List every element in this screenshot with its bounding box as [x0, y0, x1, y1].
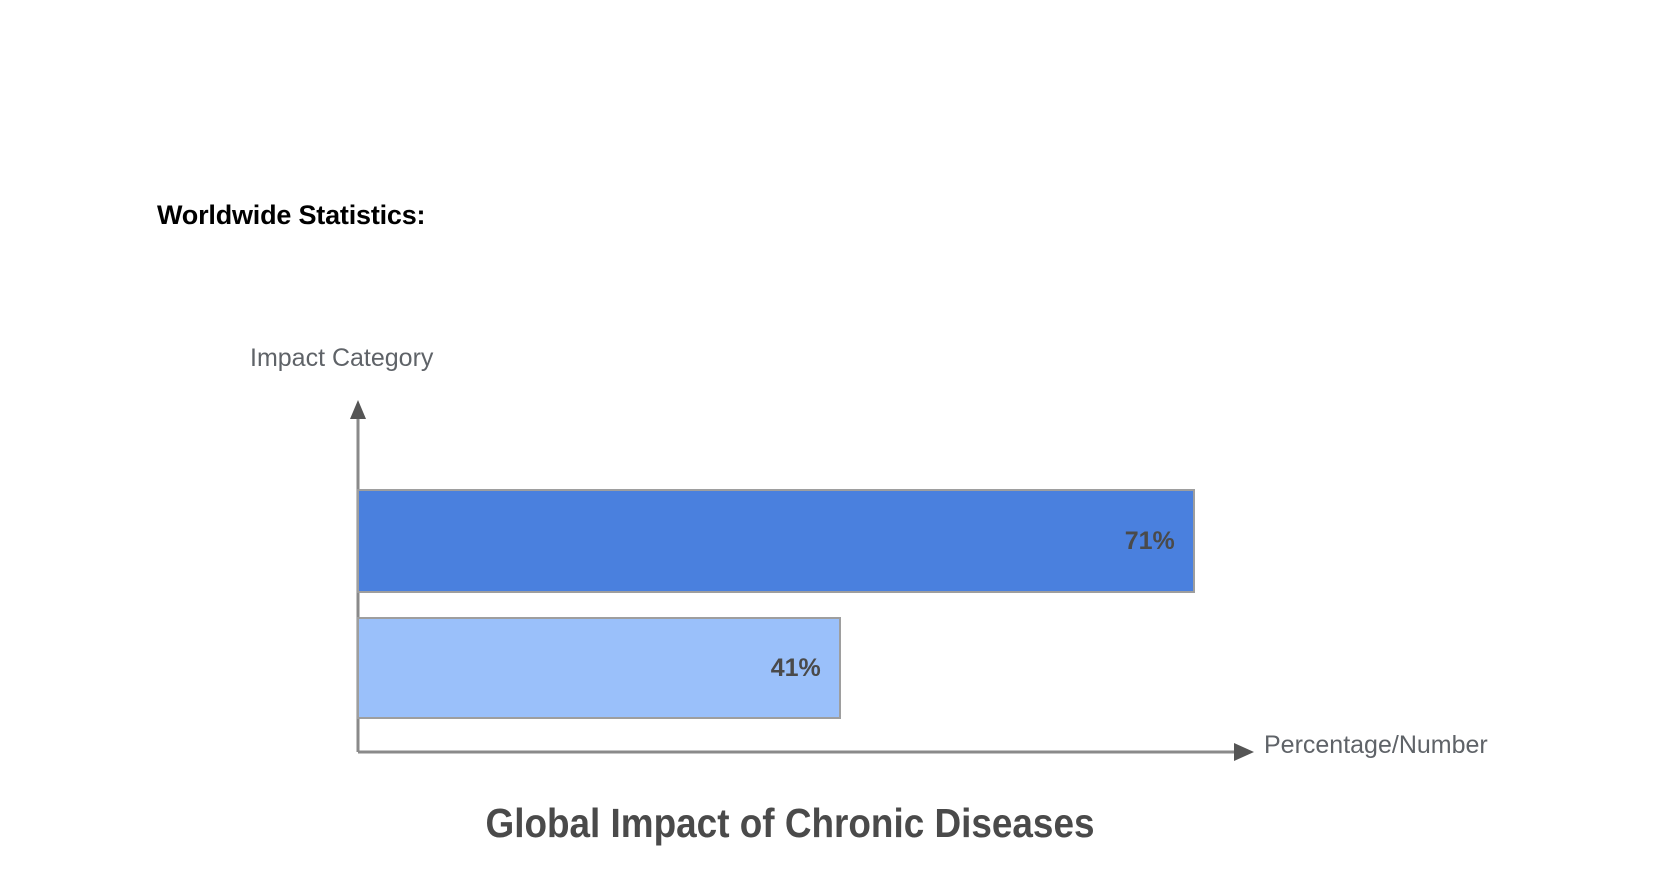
chart-title: Global Impact of Chronic Diseases: [79, 800, 1501, 847]
bar-value-lives: 41%: [771, 654, 839, 683]
bar-deaths[interactable]: 71%: [357, 489, 1195, 593]
x-axis-arrowhead: [1234, 743, 1254, 761]
bar-lives[interactable]: 41%: [357, 617, 841, 719]
bar-chart-figure: Impact Category Percentage/Number Deaths…: [0, 0, 1680, 896]
y-axis-label: Impact Category: [250, 344, 433, 373]
chart-axes: [0, 0, 1680, 896]
y-axis-arrowhead: [350, 400, 366, 419]
x-axis-label: Percentage/Number: [1264, 731, 1488, 760]
bar-value-deaths: 71%: [1125, 527, 1193, 556]
